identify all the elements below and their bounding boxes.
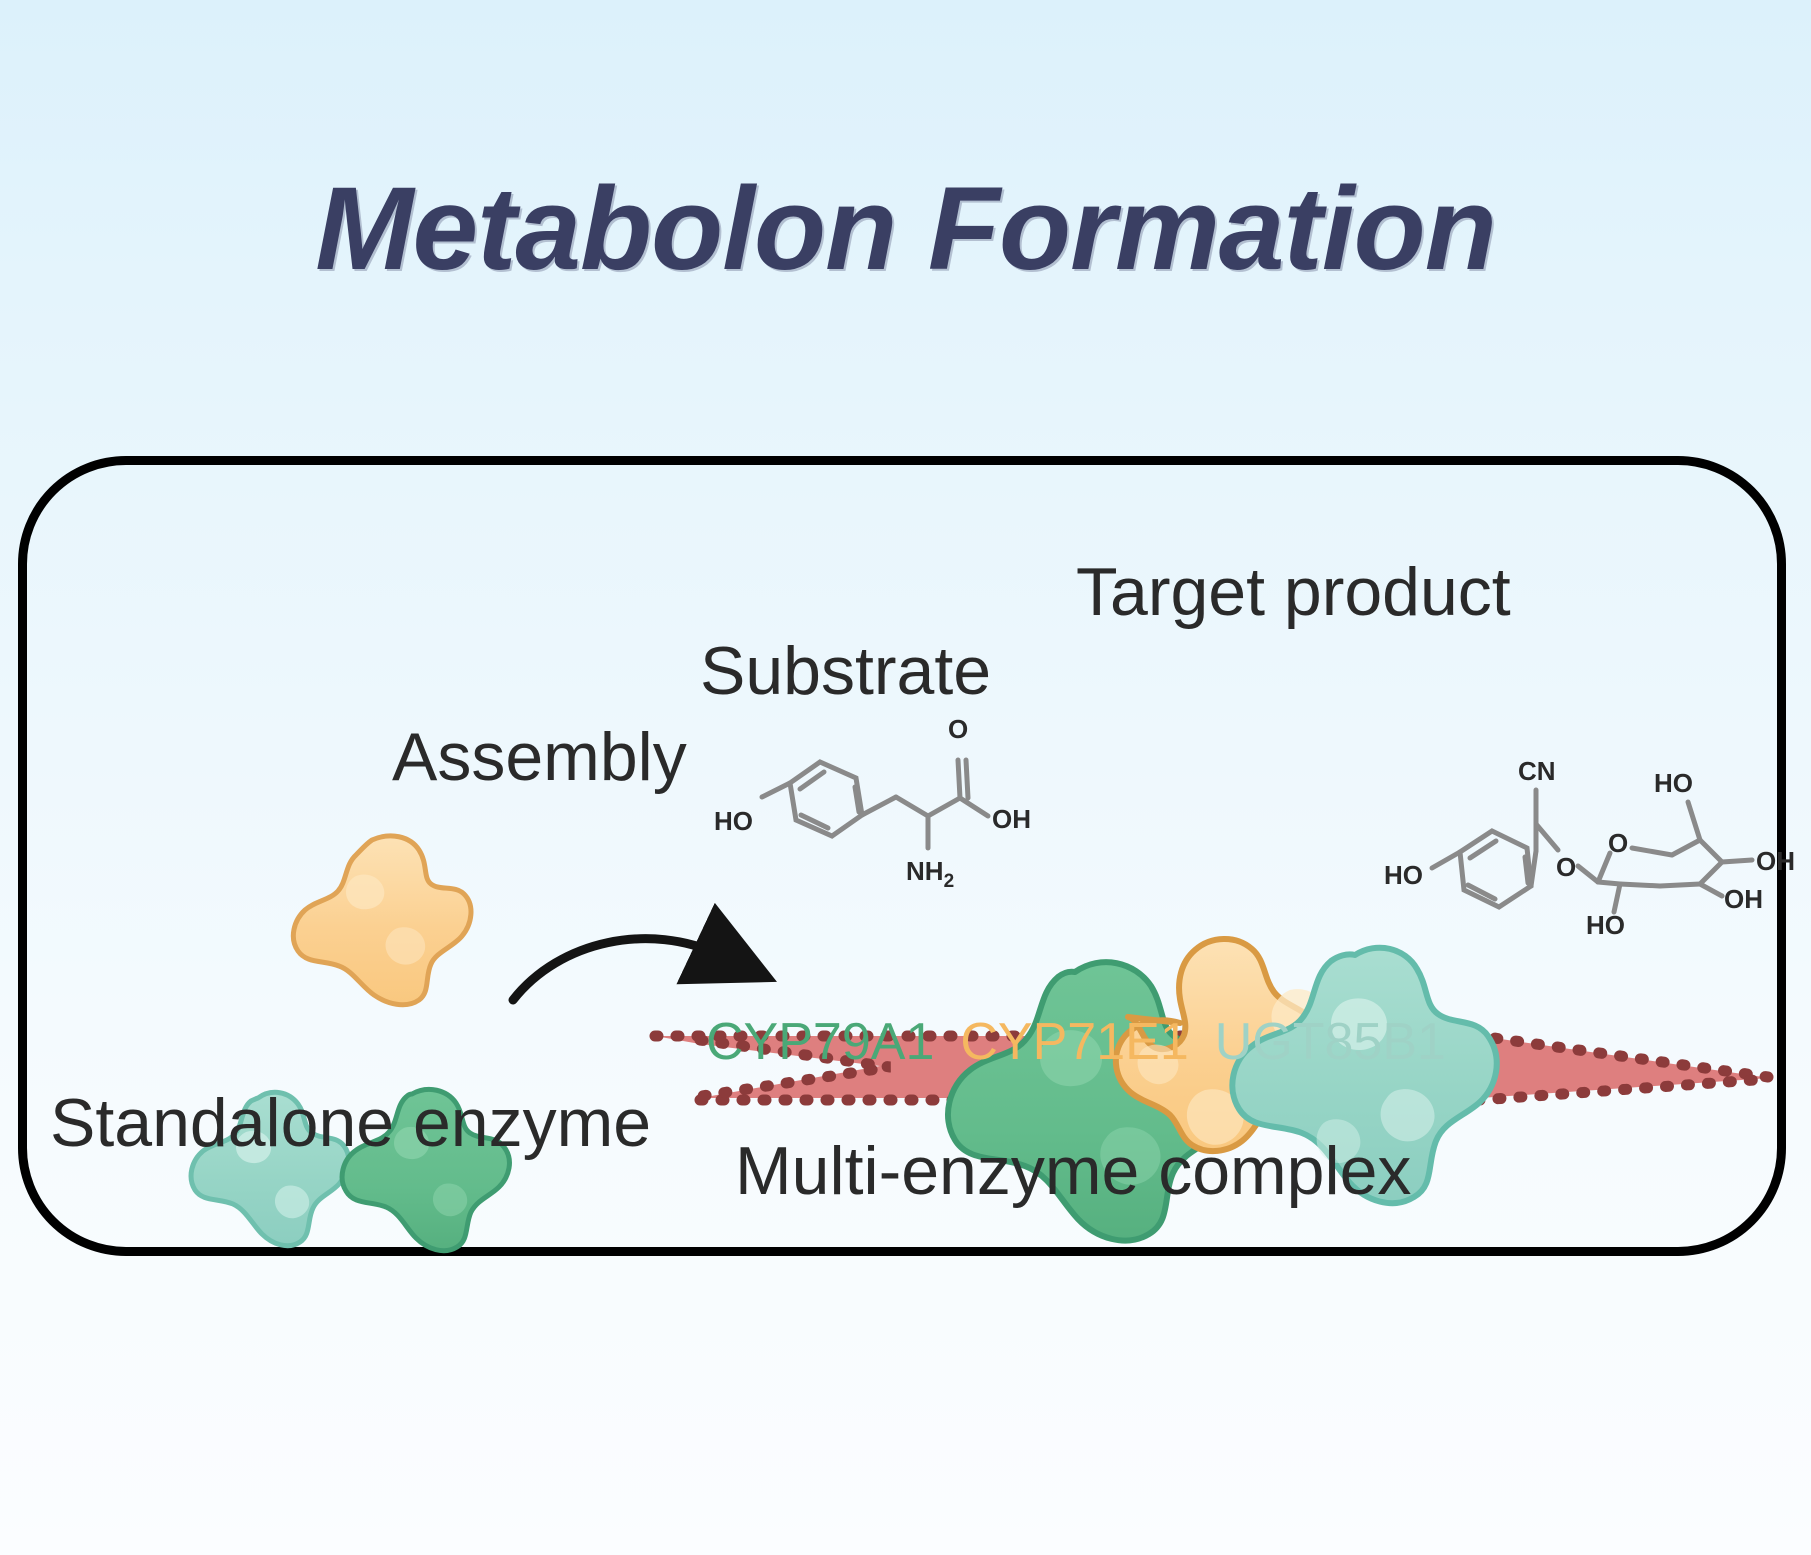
assembly-label: Assembly: [392, 718, 687, 796]
enzyme-legend: CYP79A1 CYP71E1 UGT85B1: [706, 1012, 1466, 1072]
substrate-atom-labels: HO O OH NH2: [714, 714, 1031, 892]
product-label-o-ring: O: [1608, 828, 1628, 858]
substrate-label: Substrate: [700, 632, 991, 710]
product-label-ho-top: HO: [1654, 768, 1693, 798]
product-label-o-glycosidic: O: [1556, 852, 1576, 882]
substrate-label-nh2: NH2: [906, 856, 954, 892]
product-label-ho-lower: HO: [1586, 910, 1625, 940]
substrate-label-o: O: [948, 714, 968, 744]
standalone-enzyme-label: Standalone enzyme: [50, 1084, 651, 1162]
product-label-oh-lower: OH: [1724, 884, 1763, 914]
enzyme-legend-cyp79a1: CYP79A1: [706, 1012, 934, 1072]
diagram-artwork: HO O OH NH2: [0, 0, 1811, 1555]
figure-canvas: Metabolon Formation: [0, 0, 1811, 1555]
product-atom-labels: CN HO O O OH OH HO HO: [1384, 756, 1795, 940]
assembly-arrow: [513, 939, 720, 1000]
multi-enzyme-complex-label: Multi-enzyme complex: [735, 1132, 1411, 1210]
substrate-label-ho: HO: [714, 806, 753, 836]
product-label-cn: CN: [1518, 756, 1556, 786]
substrate-label-oh: OH: [992, 804, 1031, 834]
enzyme-legend-ugt85b1: UGT85B1: [1215, 1012, 1446, 1072]
enzyme-legend-cyp71e1: CYP71E1: [960, 1012, 1188, 1072]
standalone-enzyme-cyp71e1: [293, 836, 471, 1005]
product-label-oh-right: OH: [1756, 846, 1795, 876]
substrate-structure: [762, 760, 988, 848]
target-product-label: Target product: [1076, 553, 1511, 631]
product-label-ho-ring: HO: [1384, 860, 1423, 890]
product-structure: [1432, 790, 1752, 912]
